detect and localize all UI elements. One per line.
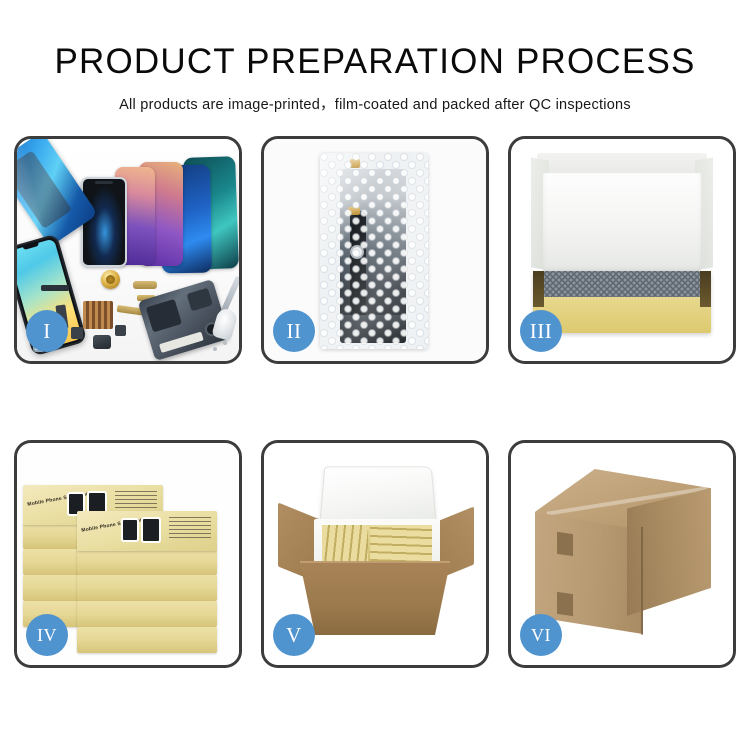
open-kraft-inner-box-icon <box>529 153 715 333</box>
gold-coil-part-icon <box>101 270 120 289</box>
page-title: PRODUCT PREPARATION PROCESS <box>0 44 750 79</box>
kraft-box-front-4 <box>77 627 217 653</box>
rear-box-label: Mobile Phone Spare Parts <box>27 490 94 507</box>
carton-tape-upper <box>557 532 573 556</box>
front-window-1 <box>123 520 137 540</box>
page-subtitle: All products are image-printed，film-coat… <box>0 93 750 114</box>
process-step-card-6[interactable]: VI <box>508 440 736 668</box>
screw-part-2 <box>213 347 217 351</box>
carton-vertical-edge <box>641 527 643 635</box>
chip-array-part-icon <box>83 301 113 329</box>
internal-board <box>187 288 213 312</box>
header: PRODUCT PREPARATION PROCESS All products… <box>0 0 750 114</box>
sealed-shipping-carton-icon <box>527 469 721 639</box>
process-step-grid: I II <box>14 136 736 736</box>
process-step-card-4[interactable]: Mobile Phone Spare Parts <box>14 440 242 668</box>
kraft-box-front-top: Mobile Phone Spare Parts <box>77 511 217 551</box>
carton-body <box>300 563 450 635</box>
step-badge-5: V <box>273 614 315 656</box>
foam-lid <box>319 466 436 524</box>
carton-right-face <box>627 488 711 616</box>
internal-battery <box>146 299 182 333</box>
screen-notch <box>95 181 113 184</box>
front-box-label: Mobile Phone Spare Parts <box>81 516 148 533</box>
kraft-box-front-2 <box>77 575 217 601</box>
bubble-wrap-bag-icon <box>320 153 428 349</box>
battery-connector-part <box>41 285 69 291</box>
screw-part-1 <box>223 341 227 345</box>
process-step-card-1[interactable]: I <box>14 136 242 364</box>
step-badge-4: IV <box>26 614 68 656</box>
step-badge-2: II <box>273 310 315 352</box>
tray-lip-right <box>700 271 711 307</box>
small-part-3 <box>115 325 126 336</box>
foam-sheet <box>543 173 701 271</box>
flex-cable-part-1 <box>133 281 157 289</box>
small-part-2 <box>71 327 83 339</box>
step-badge-3: III <box>520 310 562 352</box>
kraft-box-front-1 <box>77 549 217 575</box>
bubble-wrap-contents <box>544 271 700 297</box>
tray-lip-left <box>533 271 544 307</box>
front-top-face: Mobile Phone Spare Parts <box>77 511 217 551</box>
phone-screen-panel-icon <box>81 177 127 267</box>
front-window-2 <box>143 519 159 541</box>
carton-tape-lower <box>557 592 573 616</box>
front-spec-lines <box>169 517 211 545</box>
process-step-card-2[interactable]: II <box>261 136 489 364</box>
process-step-card-5[interactable]: V <box>261 440 489 668</box>
plastic-sheen <box>320 153 428 349</box>
step-badge-1: I <box>26 310 68 352</box>
step-badge-6: VI <box>520 614 562 656</box>
screen-glow <box>83 179 125 265</box>
product-preparation-infographic: PRODUCT PREPARATION PROCESS All products… <box>0 0 750 750</box>
kraft-box-front-3 <box>77 601 217 627</box>
process-step-card-3[interactable]: III <box>508 136 736 364</box>
speaker-part-icon <box>93 335 111 349</box>
